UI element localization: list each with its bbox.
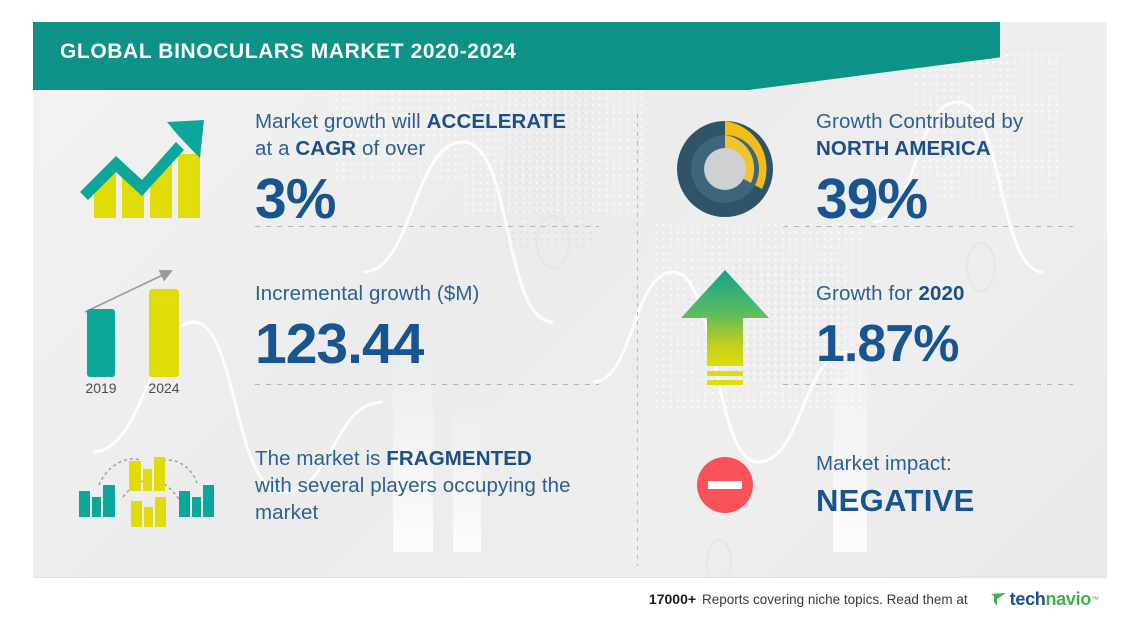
cagr-text-block: Market growth will ACCELERATE at a CAGR … xyxy=(251,108,637,230)
market-impact-text-block: Market impact: NEGATIVE xyxy=(812,450,1107,521)
fragmented-market-buildings-icon xyxy=(33,439,251,531)
technavio-logo-navio: navio xyxy=(1045,589,1091,610)
regional-line2-bold: NORTH AMERICA xyxy=(816,137,991,160)
fragmentation-text-block: The market is FRAGMENTED with several pl… xyxy=(251,445,637,526)
incremental-growth-text-block: Incremental growth ($M) 123.44 xyxy=(251,280,637,375)
incremental-growth-value: 123.44 xyxy=(255,313,637,375)
donut-chart-icon xyxy=(637,113,812,225)
cagr-value: 3% xyxy=(255,168,637,230)
regional-contribution-description: Growth Contributed by NORTH AMERICA xyxy=(816,108,1107,162)
stat-block-regional-contribution: Growth Contributed by NORTH AMERICA 39% xyxy=(637,90,1107,248)
yearly-growth-year: 2020 xyxy=(919,282,965,305)
stat-block-yearly-growth: Growth for 2020 1.87% xyxy=(637,248,1107,406)
negative-minus-circle-icon xyxy=(637,452,812,518)
incremental-growth-label: Incremental growth ($M) xyxy=(255,280,637,307)
up-arrow-icon xyxy=(637,266,812,388)
infographic-root: GLOBAL BINOCULARS MARKET 2020-2024 xyxy=(0,0,1140,627)
growth-arrow-chart-icon xyxy=(33,114,251,224)
technavio-logo-tech: tech xyxy=(1010,589,1046,610)
regional-contribution-value: 39% xyxy=(816,168,1107,230)
bar-label-2024: 2024 xyxy=(148,380,179,396)
two-bar-comparison-icon: 2019 2024 xyxy=(33,257,251,397)
page-title: GLOBAL BINOCULARS MARKET 2020-2024 xyxy=(60,40,516,64)
right-column: Growth Contributed by NORTH AMERICA 39% xyxy=(637,90,1107,564)
footer-bar: 17000+ Reports covering niche topics. Re… xyxy=(33,577,1107,620)
stat-block-fragmentation: The market is FRAGMENTED with several pl… xyxy=(33,406,637,564)
left-column: Market growth will ACCELERATE at a CAGR … xyxy=(33,90,637,564)
fragmentation-line1-bold: FRAGMENTED xyxy=(386,447,532,470)
regional-contribution-text-block: Growth Contributed by NORTH AMERICA 39% xyxy=(812,108,1107,230)
regional-line1: Growth Contributed by xyxy=(816,110,1023,133)
cagr-line1-pre: Market growth will xyxy=(255,110,427,133)
market-impact-value: NEGATIVE xyxy=(816,481,1107,521)
yearly-growth-label: Growth for 2020 xyxy=(816,280,1107,307)
cagr-line2-bold: CAGR xyxy=(295,137,356,160)
fragmentation-line3: market xyxy=(255,501,318,524)
cagr-line2-pre: at a xyxy=(255,137,295,160)
cagr-description: Market growth will ACCELERATE at a CAGR … xyxy=(255,108,637,162)
fragmentation-line2: with several players occupying the xyxy=(255,474,571,497)
market-impact-label: Market impact: xyxy=(816,450,1107,477)
fragmentation-line1-pre: The market is xyxy=(255,447,386,470)
bar-label-2019: 2019 xyxy=(85,380,116,396)
cagr-line1-bold: ACCELERATE xyxy=(427,110,567,133)
technavio-mark-icon xyxy=(990,590,1008,608)
yearly-growth-label-pre: Growth for xyxy=(816,282,919,305)
yearly-growth-text-block: Growth for 2020 1.87% xyxy=(812,280,1107,375)
footer-tagline: Reports covering niche topics. Read them… xyxy=(702,592,968,607)
trademark-mark: ™ xyxy=(1091,595,1099,604)
fragmentation-description: The market is FRAGMENTED with several pl… xyxy=(255,445,637,526)
technavio-logo[interactable]: technavio™ xyxy=(990,589,1099,610)
yearly-growth-value: 1.87% xyxy=(816,313,1107,375)
stat-block-incremental-growth: 2019 2024 Incremental growth ($M) 123.44 xyxy=(33,248,637,406)
cagr-line2-post: of over xyxy=(356,137,425,160)
stat-block-market-impact: Market impact: NEGATIVE xyxy=(637,406,1107,564)
infographic-card: GLOBAL BINOCULARS MARKET 2020-2024 xyxy=(33,22,1107,606)
footer-report-count: 17000+ xyxy=(649,591,696,607)
stat-block-cagr: Market growth will ACCELERATE at a CAGR … xyxy=(33,90,637,248)
